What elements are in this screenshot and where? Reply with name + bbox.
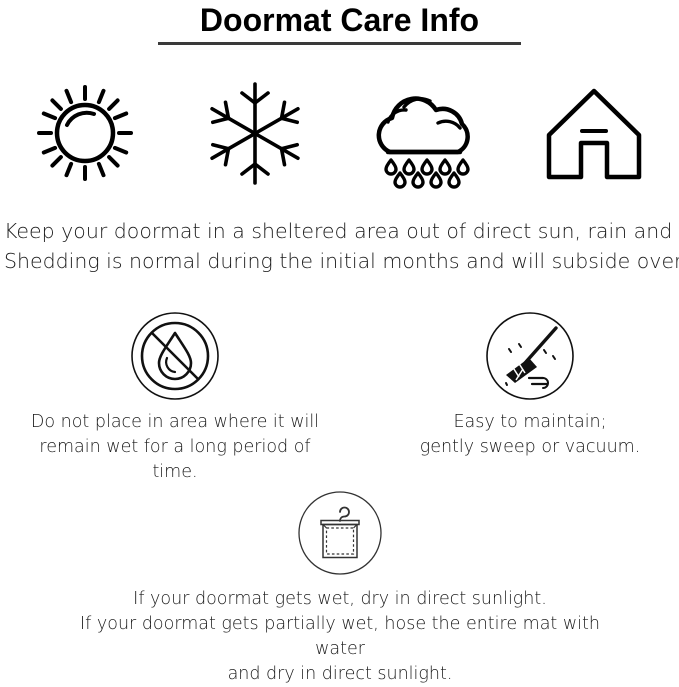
- house-icon: [514, 72, 674, 194]
- weather-icon-row: [0, 72, 679, 194]
- hang-dry-icon: [60, 487, 620, 579]
- sun-icon: [5, 72, 165, 194]
- care-block-no-water: Do not place in area where it will remai…: [20, 310, 330, 485]
- intro-line-1: Keep your doormat in a sheltered area ou…: [4, 216, 679, 246]
- snowflake-icon: [175, 72, 335, 194]
- no-water-line-1: Do not place in area where it will: [20, 410, 330, 435]
- intro-paragraph: Keep your doormat in a sheltered area ou…: [4, 216, 679, 276]
- page-header: Doormat Care Info: [0, 0, 679, 45]
- care-text-no-water: Do not place in area where it will remai…: [20, 410, 330, 485]
- dry-line-1: If your doormat gets wet, dry in direct …: [60, 587, 620, 612]
- care-text-sweep: Easy to maintain; gently sweep or vacuum…: [400, 410, 660, 460]
- intro-line-2: Shedding is normal during the initial mo…: [4, 246, 679, 276]
- care-text-dry: If your doormat gets wet, dry in direct …: [60, 587, 620, 687]
- broom-icon: [400, 310, 660, 402]
- care-block-sweep: Easy to maintain; gently sweep or vacuum…: [400, 310, 660, 460]
- no-water-line-2: remain wet for a long period of time.: [20, 435, 330, 485]
- sweep-line-1: Easy to maintain;: [400, 410, 660, 435]
- sweep-line-2: gently sweep or vacuum.: [400, 435, 660, 460]
- title-underline: [158, 42, 521, 45]
- care-row: Do not place in area where it will remai…: [0, 310, 679, 460]
- care-block-dry: If your doormat gets wet, dry in direct …: [60, 487, 620, 687]
- dry-line-3: and dry in direct sunlight.: [60, 662, 620, 687]
- rain-cloud-icon: [344, 72, 504, 194]
- no-water-icon: [20, 310, 330, 402]
- page-title: Doormat Care Info: [0, 0, 679, 38]
